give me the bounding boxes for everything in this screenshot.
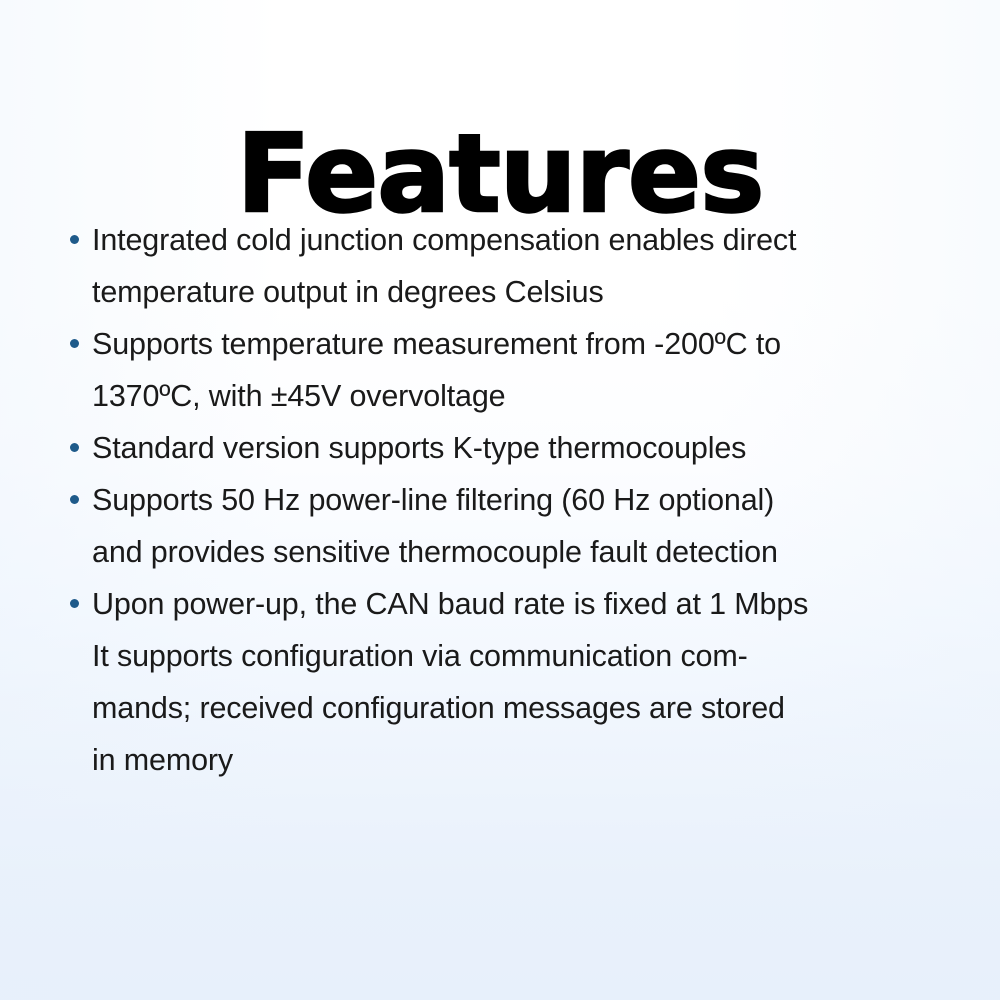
feature-text: Supports temperature measurement from -2…	[92, 318, 942, 422]
feature-list-item-k-type-thermocouples: Standard version supports K-type thermoc…	[62, 422, 942, 474]
bullet-dot-icon	[70, 443, 79, 452]
feature-list-item-power-line-filtering: Supports 50 Hz power-line filtering (60 …	[62, 474, 942, 578]
bullet-dot-icon	[70, 339, 79, 348]
features-list: Integrated cold junction compensation en…	[62, 214, 942, 786]
feature-list-item-temperature-range: Supports temperature measurement from -2…	[62, 318, 942, 422]
feature-text: Standard version supports K-type thermoc…	[92, 422, 942, 474]
feature-text: Supports 50 Hz power-line filtering (60 …	[92, 474, 942, 578]
feature-text: Integrated cold junction compensation en…	[92, 214, 942, 318]
bullet-dot-icon	[70, 235, 79, 244]
bullet-dot-icon	[70, 599, 79, 608]
feature-text: Upon power-up, the CAN baud rate is fixe…	[92, 578, 942, 786]
features-slide: Features Integrated cold junction compen…	[0, 0, 1000, 1000]
feature-list-item-can-baud-rate: Upon power-up, the CAN baud rate is fixe…	[62, 578, 942, 786]
feature-list-item-cold-junction-compensation: Integrated cold junction compensation en…	[62, 214, 942, 318]
bullet-dot-icon	[70, 495, 79, 504]
